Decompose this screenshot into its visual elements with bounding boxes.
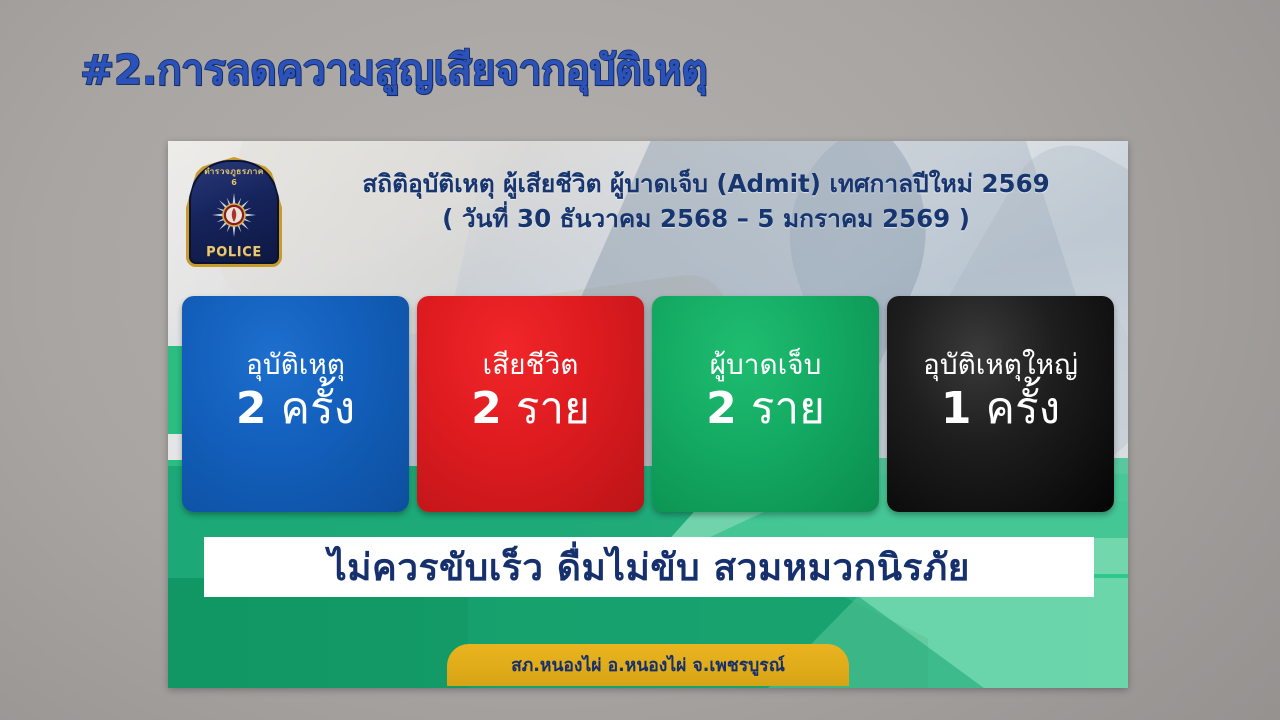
stat-card-value: 1 ครั้ง bbox=[941, 383, 1060, 435]
station-footer-badge: สภ.หนองไผ่ อ.หนองไผ่ จ.เพชรบูรณ์ bbox=[447, 644, 849, 686]
statistics-card-row: อุบัติเหตุ 2 ครั้ง เสียชีวิต 2 ราย ผู้บา… bbox=[182, 296, 1114, 512]
page-title: #2.การลดความสูญเสียจากอุบัติเหตุ bbox=[80, 47, 707, 94]
stat-card-unit: ราย bbox=[516, 383, 590, 434]
stat-card-unit: ครั้ง bbox=[281, 383, 356, 434]
stat-card-unit: ครั้ง bbox=[986, 383, 1061, 434]
poster-header: ตำรวจภูธรภาค 6 bbox=[168, 141, 1128, 289]
stat-card-accidents[interactable]: อุบัติเหตุ 2 ครั้ง bbox=[182, 296, 409, 512]
badge-sub-text: 6 bbox=[186, 178, 282, 187]
stat-card-deaths[interactable]: เสียชีวิต 2 ราย bbox=[417, 296, 644, 512]
stat-card-label: อุบัติเหตุใหญ่ bbox=[923, 349, 1078, 381]
badge-arc-text: ตำรวจภูธรภาค bbox=[184, 165, 285, 178]
stat-card-unit: ราย bbox=[751, 383, 825, 434]
safety-slogan-text: ไม่ควรขับเร็ว ดื่มไม่ขับ สวมหมวกนิรภัย bbox=[328, 538, 970, 597]
stat-card-major-accidents[interactable]: อุบัติเหตุใหญ่ 1 ครั้ง bbox=[887, 296, 1114, 512]
stat-card-label: ผู้บาดเจ็บ bbox=[710, 349, 822, 381]
statistics-poster: ตำรวจภูธรภาค 6 bbox=[168, 141, 1128, 688]
stat-card-number: 1 bbox=[941, 383, 972, 434]
stat-card-value: 2 ราย bbox=[706, 383, 825, 435]
stat-card-label: อุบัติเหตุ bbox=[246, 349, 345, 381]
poster-header-text: สถิติอุบัติเหตุ ผู้เสียชีวิต ผู้บาดเจ็บ … bbox=[296, 167, 1116, 237]
stat-card-label: เสียชีวิต bbox=[483, 349, 579, 381]
stat-card-number: 2 bbox=[471, 383, 502, 434]
stat-card-number: 2 bbox=[706, 383, 737, 434]
badge-starburst-icon bbox=[210, 191, 258, 239]
stat-card-value: 2 ราย bbox=[471, 383, 590, 435]
station-footer-text: สภ.หนองไผ่ อ.หนองไผ่ จ.เพชรบูรณ์ bbox=[511, 651, 785, 679]
stat-card-value: 2 ครั้ง bbox=[236, 383, 355, 435]
stat-card-injuries[interactable]: ผู้บาดเจ็บ 2 ราย bbox=[652, 296, 879, 512]
police-badge-icon: ตำรวจภูธรภาค 6 bbox=[186, 157, 282, 267]
presentation-slide: #2.การลดความสูญเสียจากอุบัติเหตุ bbox=[0, 0, 1280, 720]
safety-slogan-banner: ไม่ควรขับเร็ว ดื่มไม่ขับ สวมหมวกนิรภัย bbox=[204, 537, 1094, 597]
stat-card-number: 2 bbox=[236, 383, 267, 434]
poster-header-line-1: สถิติอุบัติเหตุ ผู้เสียชีวิต ผู้บาดเจ็บ … bbox=[296, 167, 1116, 202]
badge-word-text: POLICE bbox=[186, 245, 282, 260]
poster-header-line-2: ( วันที่ 30 ธันวาคม 2568 – 5 มกราคม 2569… bbox=[296, 202, 1116, 237]
